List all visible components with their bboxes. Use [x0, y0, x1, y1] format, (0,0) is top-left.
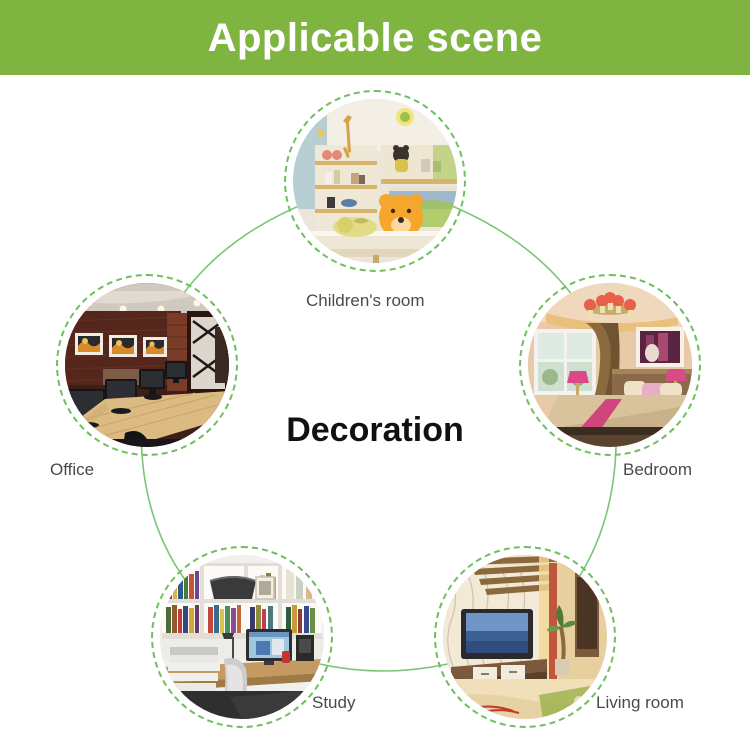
node-label-study: Study — [312, 693, 355, 713]
office-photo — [65, 283, 229, 447]
living-room-photo — [443, 555, 607, 719]
bedroom-photo — [528, 283, 692, 447]
study-photo — [160, 555, 324, 719]
childrens-room-photo — [293, 99, 457, 263]
header-bar: Applicable scene — [0, 0, 750, 75]
node-label-office: Office — [50, 460, 94, 480]
applicable-scene-infographic: Applicable scene Decoration — [0, 0, 750, 750]
node-childrens-room[interactable] — [284, 90, 466, 272]
node-label-childrens-room: Children's room — [306, 291, 425, 311]
node-office[interactable] — [56, 274, 238, 456]
node-label-living-room: Living room — [596, 693, 684, 713]
node-study[interactable] — [151, 546, 333, 728]
node-label-bedroom: Bedroom — [623, 460, 692, 480]
node-living-room[interactable] — [434, 546, 616, 728]
diagram-stage: Decoration — [0, 75, 750, 750]
node-bedroom[interactable] — [519, 274, 701, 456]
page-title: Applicable scene — [208, 18, 543, 58]
